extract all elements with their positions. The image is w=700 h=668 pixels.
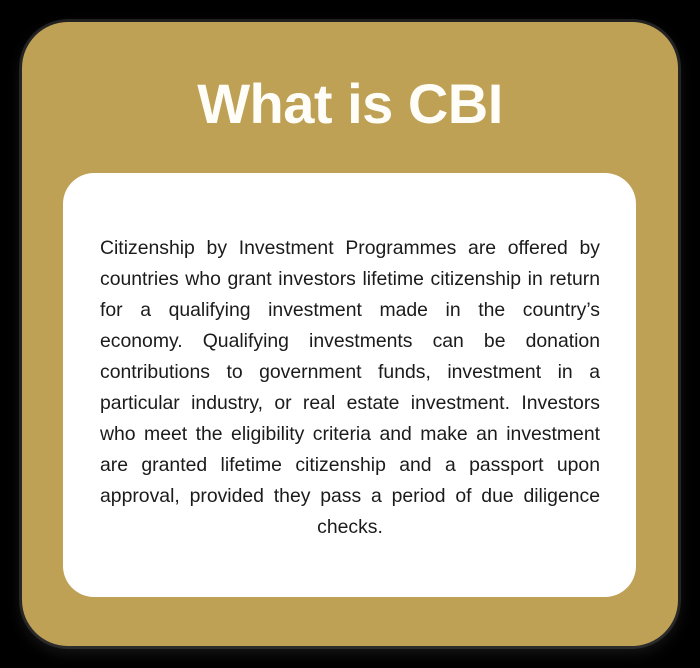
screenshot-stage: What is CBI Citizenship by Investment Pr… (0, 0, 700, 668)
page-title: What is CBI (22, 75, 678, 134)
cbi-info-card: What is CBI Citizenship by Investment Pr… (22, 22, 678, 646)
description-panel: Citizenship by Investment Programmes are… (63, 173, 636, 597)
description-paragraph: Citizenship by Investment Programmes are… (100, 233, 600, 543)
